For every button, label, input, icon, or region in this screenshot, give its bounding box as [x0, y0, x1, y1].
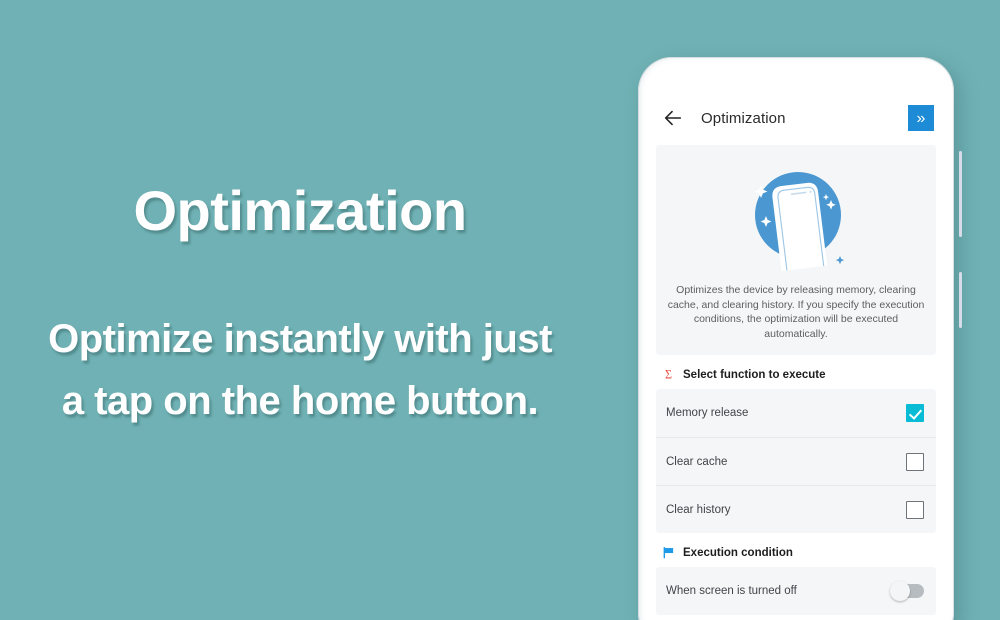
power-button[interactable]: [959, 272, 962, 328]
memory-release-checkbox[interactable]: [906, 404, 924, 422]
section-header-functions: Σ Select function to execute: [656, 355, 936, 389]
section-header-execution-condition: Execution condition: [656, 533, 936, 567]
list-item-label: Memory release: [666, 407, 906, 419]
promo-text-block: Optimization Optimize instantly with jus…: [0, 0, 620, 620]
sigma-icon: Σ: [662, 368, 675, 381]
svg-text:Σ: Σ: [665, 368, 672, 381]
promo-banner: Optimization Optimize instantly with jus…: [0, 0, 1000, 620]
list-item-clear-cache[interactable]: Clear cache: [656, 437, 936, 485]
promo-subtitle-line-1: Optimize instantly with just: [0, 308, 600, 370]
hero-description: Optimizes the device by releasing memory…: [666, 283, 926, 341]
function-list-card: Memory release Clear cache Clear history: [656, 389, 936, 533]
run-optimization-button[interactable]: »: [908, 105, 934, 131]
clear-history-checkbox[interactable]: [906, 501, 924, 519]
list-item-label: Clear history: [666, 504, 906, 516]
list-item-label: When screen is turned off: [666, 585, 892, 597]
app-bar: Optimization »: [648, 91, 944, 145]
execution-condition-list-card: When screen is turned off: [656, 567, 936, 615]
page-title: Optimization: [701, 110, 908, 127]
scroll-content[interactable]: Optimizes the device by releasing memory…: [648, 145, 944, 615]
app-screen: Optimization »: [648, 91, 944, 620]
promo-subtitle-line-2: a tap on the home button.: [0, 370, 600, 432]
list-item-memory-release[interactable]: Memory release: [656, 389, 936, 437]
screen-off-toggle[interactable]: [892, 584, 924, 598]
list-item-screen-off[interactable]: When screen is turned off: [656, 567, 936, 615]
toggle-knob: [890, 581, 910, 601]
list-item-clear-history[interactable]: Clear history: [656, 485, 936, 533]
phone-sparkle-illustration: [737, 159, 855, 277]
phone-mockup: Optimization »: [638, 57, 960, 620]
list-item-label: Clear cache: [666, 456, 906, 468]
promo-title: Optimization: [0, 178, 600, 243]
back-arrow-icon[interactable]: [662, 107, 684, 129]
clear-cache-checkbox[interactable]: [906, 453, 924, 471]
volume-button[interactable]: [959, 151, 962, 237]
section-title-execution-condition: Execution condition: [683, 547, 793, 559]
hero-card: Optimizes the device by releasing memory…: [656, 145, 936, 355]
phone-body: Optimization »: [638, 57, 954, 620]
section-title-functions: Select function to execute: [683, 369, 826, 381]
promo-subtitle: Optimize instantly with just a tap on th…: [0, 308, 600, 432]
flag-icon: [662, 546, 675, 559]
